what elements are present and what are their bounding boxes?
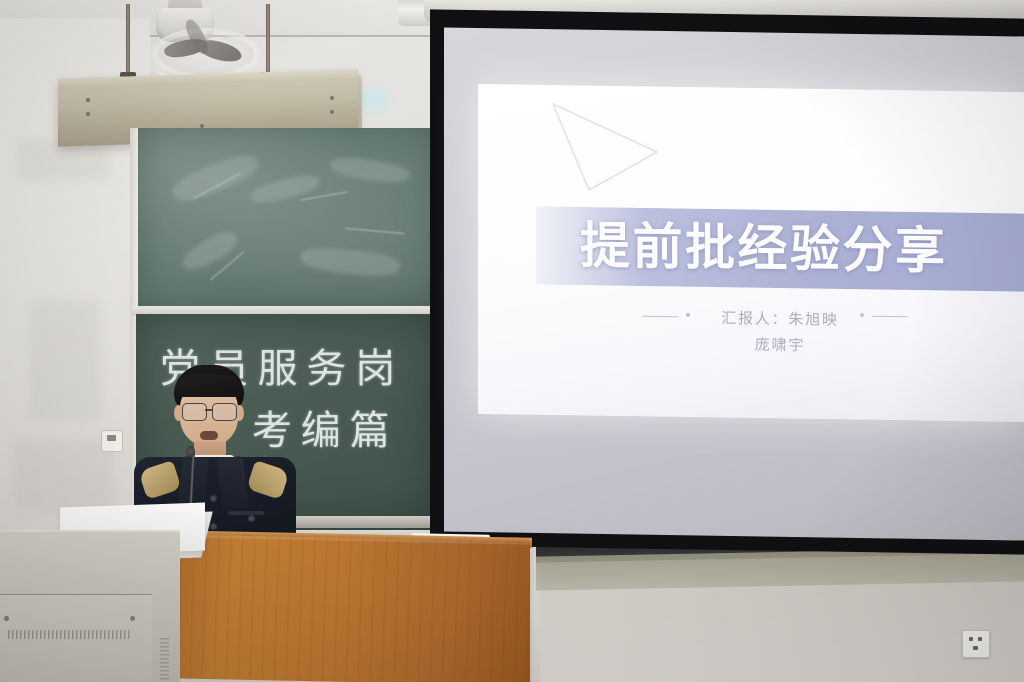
- slide-presenter-second: 庞啸宇: [640, 332, 920, 357]
- jacket-pocket: [228, 511, 264, 515]
- eyeglasses-icon: [212, 403, 237, 421]
- light-switch-icon: [101, 430, 123, 452]
- jacket-button: [210, 523, 217, 530]
- fixture-rivet: [330, 96, 334, 100]
- wall-stain: [14, 440, 114, 510]
- mouth: [200, 431, 218, 440]
- microphone-head: [186, 446, 195, 457]
- fixture-rivet: [86, 98, 90, 102]
- slide-title: 提前批经验分享: [580, 213, 1024, 286]
- classroom-presentation-photo: 党员服务岗 考编篇 提前批经验分享 汇报人：朱旭映 庞啸宇: [0, 0, 1024, 682]
- jacket-button: [248, 515, 255, 522]
- power-outlet-icon: [962, 630, 990, 658]
- cabinet-vent-slots: [8, 630, 130, 639]
- light-suspension-rod: [266, 4, 270, 78]
- slide-presenter-label: 汇报人：朱旭映: [640, 306, 920, 331]
- hair-fringe: [176, 375, 242, 397]
- fixture-rivet: [330, 110, 334, 114]
- podium-wood-grain: [170, 534, 530, 682]
- jacket-button: [210, 495, 217, 502]
- blackboard-upper-panel: [138, 128, 438, 310]
- eyeglasses-icon: [182, 403, 207, 421]
- light-suspension-rod: [126, 4, 130, 78]
- cabinet-vent-slots: [160, 638, 169, 682]
- cabinet-screw: [130, 616, 135, 621]
- wall-stain: [30, 300, 100, 420]
- eyeglasses-bridge: [205, 409, 212, 411]
- cabinet-screw: [4, 616, 9, 621]
- fixture-rivet: [86, 112, 90, 116]
